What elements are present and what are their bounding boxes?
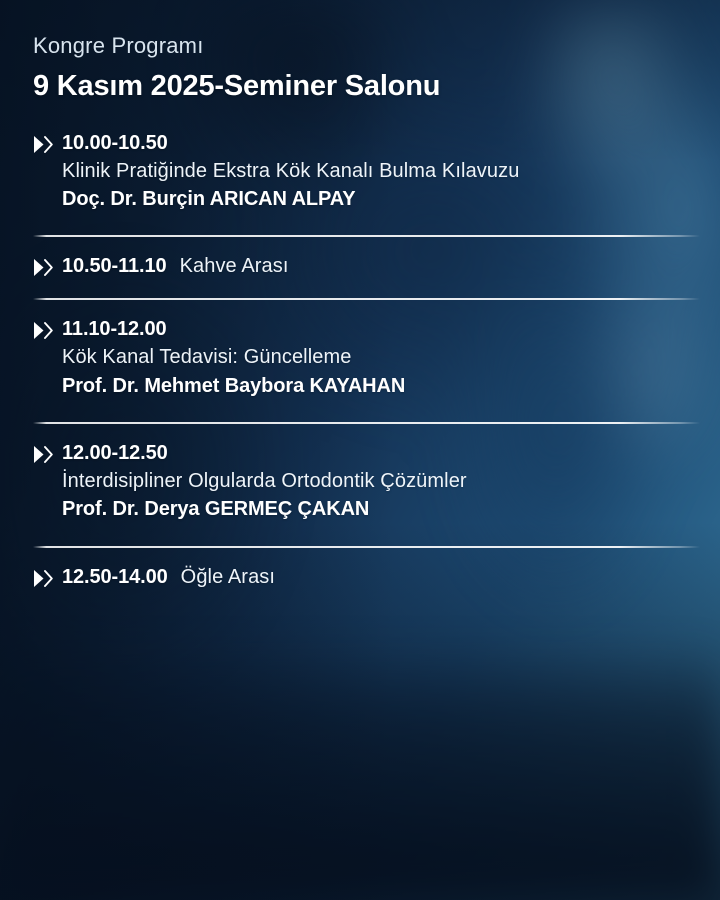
schedule-row-session: 10.00-10.50 Klinik Pratiğinde Ekstra Kök…	[33, 130, 700, 216]
spacer	[33, 424, 700, 440]
session-title: Klinik Pratiğinde Ekstra Kök Kanalı Bulm…	[62, 157, 700, 185]
session-speaker: Prof. Dr. Mehmet Baybora KAYAHAN	[62, 372, 700, 400]
page-title: 9 Kasım 2025-Seminer Salonu	[33, 70, 700, 103]
session-speaker: Prof. Dr. Derya GERMEÇ ÇAKAN	[62, 495, 700, 523]
session-time: 11.10-12.00	[62, 316, 700, 343]
break-label: Öğle Arası	[181, 564, 275, 591]
schedule-row-session: 11.10-12.00 Kök Kanal Tedavisi: Güncelle…	[33, 316, 700, 402]
double-chevron-right-icon	[33, 444, 53, 465]
spacer	[33, 215, 700, 235]
spacer	[33, 282, 700, 298]
break-time: 10.50-11.10	[62, 253, 167, 280]
double-chevron-right-icon	[33, 257, 53, 278]
double-chevron-right-icon	[33, 568, 53, 589]
session-speaker: Doç. Dr. Burçin ARICAN ALPAY	[62, 185, 700, 213]
session-time: 12.00-12.50	[62, 440, 700, 467]
spacer	[33, 237, 700, 253]
session-time: 10.00-10.50	[62, 130, 700, 157]
spacer	[33, 402, 700, 422]
poster-content: Kongre Programı 9 Kasım 2025-Seminer Sal…	[0, 0, 720, 593]
double-chevron-right-icon	[33, 320, 53, 341]
double-chevron-right-icon	[33, 134, 53, 155]
schedule-row-session: 12.00-12.50 İnterdisipliner Olgularda Or…	[33, 440, 700, 526]
schedule-list: 10.00-10.50 Klinik Pratiğinde Ekstra Kök…	[33, 130, 700, 593]
session-title: İnterdisipliner Olgularda Ortodontik Çöz…	[62, 467, 700, 495]
congress-program-poster: Kongre Programı 9 Kasım 2025-Seminer Sal…	[0, 0, 720, 900]
session-title: Kök Kanal Tedavisi: Güncelleme	[62, 343, 700, 371]
program-eyebrow-label: Kongre Programı	[33, 34, 700, 58]
schedule-row-break: 10.50-11.10 Kahve Arası	[33, 253, 700, 282]
spacer	[33, 300, 700, 316]
break-label: Kahve Arası	[180, 253, 289, 280]
spacer	[33, 548, 700, 564]
break-time: 12.50-14.00	[62, 564, 168, 591]
spacer	[33, 526, 700, 546]
schedule-row-break: 12.50-14.00 Öğle Arası	[33, 564, 700, 593]
